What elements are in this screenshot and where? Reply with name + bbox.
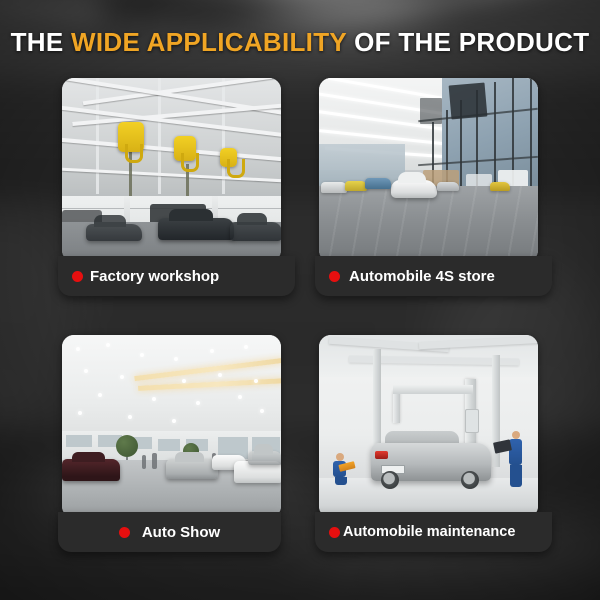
card-label-automobile-maintenance: Automobile maintenance [343, 524, 515, 540]
card-automobile-4s-store[interactable]: Automobile 4S store [315, 78, 538, 296]
crane-hook-icon [220, 148, 237, 167]
page-title-highlight: WIDE APPLICABILITY [71, 27, 347, 57]
card-image-factory-workshop [62, 78, 281, 262]
scene-person [152, 453, 157, 469]
card-label-bar-auto-show: Auto Show [58, 512, 281, 552]
card-image-automobile-maintenance [319, 335, 538, 518]
lift-arm [393, 385, 473, 394]
card-image-auto-show [62, 335, 281, 518]
page-title-prefix: THE [11, 27, 71, 57]
scene-car [166, 459, 218, 479]
scene-car [345, 181, 367, 191]
card-label-auto-show: Auto Show [142, 524, 220, 541]
scene-car [230, 222, 281, 241]
scene-car [158, 218, 234, 240]
scene-tree [116, 435, 138, 457]
scene-maintenance-bay [319, 335, 538, 518]
scene-car [62, 459, 120, 481]
scene-car [490, 182, 510, 191]
suv-taillight [375, 451, 388, 459]
scene-car [321, 182, 347, 193]
lift-control-box [465, 409, 479, 433]
suv-wheel [381, 471, 399, 489]
scene-car [391, 180, 437, 198]
page-title: THE WIDE APPLICABILITY OF THE PRODUCT [0, 27, 600, 58]
scene-car [437, 182, 459, 191]
card-automobile-maintenance[interactable]: Automobile maintenance [315, 335, 538, 552]
page-title-suffix: OF THE PRODUCT [347, 27, 590, 57]
crane-hook-icon [174, 136, 196, 161]
scene-banner [420, 98, 442, 124]
crane-hook-icon [118, 122, 144, 152]
red-dot-icon [72, 271, 83, 282]
card-label-bar-automobile-maintenance: Automobile maintenance [315, 512, 552, 552]
card-auto-show[interactable]: Auto Show [58, 335, 281, 552]
technician-leg [510, 465, 522, 487]
card-label-automobile-4s-store: Automobile 4S store [349, 268, 495, 285]
promo-banner: THE WIDE APPLICABILITY OF THE PRODUCT [0, 0, 600, 600]
scene-beam [96, 78, 99, 194]
scene-car [86, 224, 142, 241]
red-dot-icon [329, 271, 340, 282]
scene-factory-workshop [62, 78, 281, 262]
card-factory-workshop[interactable]: Factory workshop [58, 78, 281, 296]
scene-person [142, 455, 146, 469]
technician-head [336, 453, 344, 461]
technician-leg [335, 477, 347, 485]
card-label-bar-automobile-4s-store: Automobile 4S store [315, 256, 552, 296]
scene-window [66, 435, 92, 447]
lift-post [393, 391, 400, 423]
suv-wheel [461, 471, 479, 489]
scene-window [158, 439, 180, 451]
scene-banner [449, 82, 488, 119]
scene-car [365, 178, 391, 189]
card-grid: Factory workshop [58, 78, 542, 565]
card-image-automobile-4s-store [319, 78, 538, 262]
red-dot-icon [119, 527, 130, 538]
technician-body [509, 439, 522, 465]
scene-dealership-showroom [319, 78, 538, 262]
scene-car [248, 451, 281, 465]
card-label-factory-workshop: Factory workshop [90, 268, 219, 285]
scene-auto-show [62, 335, 281, 518]
card-label-bar-factory-workshop: Factory workshop [58, 256, 295, 296]
technician-head [512, 431, 520, 439]
red-dot-icon [329, 527, 340, 538]
